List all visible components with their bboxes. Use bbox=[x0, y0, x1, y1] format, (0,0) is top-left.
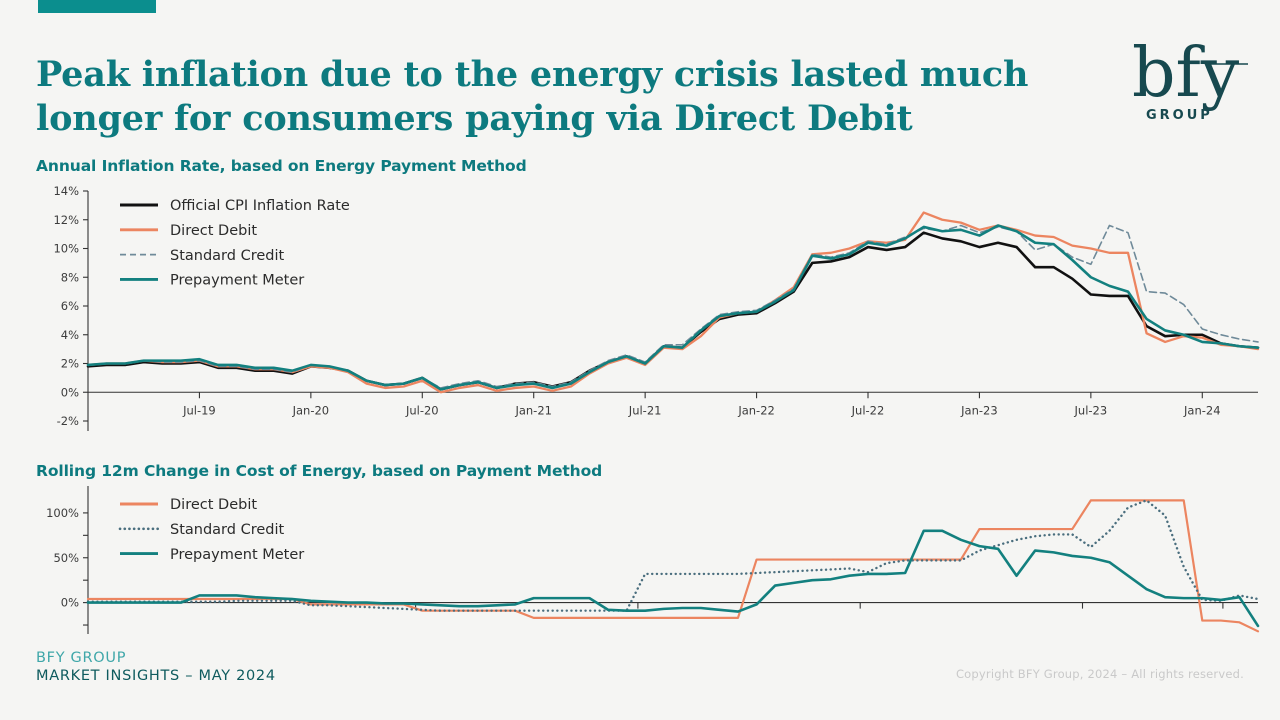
chart1-ytick-label: -2% bbox=[57, 414, 79, 428]
chart1-series-line bbox=[88, 213, 1258, 393]
chart1-ytick-label: 2% bbox=[61, 357, 79, 371]
chart1-xtick-label: Jan-24 bbox=[1183, 403, 1221, 417]
footer-copyright: Copyright BFY Group, 2024 – All rights r… bbox=[956, 667, 1244, 681]
chart1-xtick-label: Jan-22 bbox=[737, 403, 775, 417]
chart1-xtick-label: Jul-21 bbox=[628, 403, 662, 417]
chart2-series-line bbox=[88, 500, 1258, 631]
footer-left: BFY GROUP MARKET INSIGHTS – MAY 2024 bbox=[36, 650, 276, 685]
footer-subtitle: MARKET INSIGHTS – MAY 2024 bbox=[36, 668, 276, 686]
accent-bar bbox=[38, 0, 156, 13]
chart2-series-line bbox=[88, 531, 1258, 626]
chart1-xtick-label: Jan-23 bbox=[960, 403, 998, 417]
chart1-ytick-label: 12% bbox=[53, 213, 79, 227]
chart1-ytick-label: 14% bbox=[53, 184, 79, 198]
chart1-legend-label: Standard Credit bbox=[170, 248, 284, 264]
chart2-ytick-label: 50% bbox=[53, 551, 79, 565]
page-title: Peak inflation due to the energy crisis … bbox=[36, 53, 1066, 140]
chart1-legend-label: Direct Debit bbox=[170, 223, 257, 239]
chart1-xtick-label: Jul-19 bbox=[182, 403, 216, 417]
chart2-ytick-label: 100% bbox=[46, 506, 79, 520]
chart1-xtick-label: Jul-22 bbox=[851, 403, 885, 417]
chart2-legend-label: Standard Credit bbox=[170, 522, 284, 538]
chart1-xtick-label: Jul-23 bbox=[1074, 403, 1108, 417]
chart1-xtick-label: Jul-20 bbox=[405, 403, 439, 417]
chart2-legend-label: Direct Debit bbox=[170, 497, 257, 513]
chart1-ytick-label: 4% bbox=[61, 328, 79, 342]
chart-rolling-12m-cost-change: 0%50%100%Direct DebitStandard CreditPrep… bbox=[0, 482, 1280, 642]
chart2-legend-label: Prepayment Meter bbox=[170, 547, 304, 563]
chart1-svg: -2%0%2%4%6%8%10%12%14%Jul-19Jan-20Jul-20… bbox=[0, 183, 1280, 448]
chart2-svg: 0%50%100%Direct DebitStandard CreditPrep… bbox=[0, 482, 1280, 642]
chart1-heading: Annual Inflation Rate, based on Energy P… bbox=[36, 157, 527, 175]
chart2-heading: Rolling 12m Change in Cost of Energy, ba… bbox=[36, 462, 602, 480]
chart1-xtick-label: Jan-21 bbox=[514, 403, 552, 417]
chart-annual-inflation-rate: -2%0%2%4%6%8%10%12%14%Jul-19Jan-20Jul-20… bbox=[0, 183, 1280, 448]
chart1-ytick-label: 0% bbox=[61, 385, 79, 399]
logo-svg: bfy GROUP bbox=[1122, 22, 1252, 130]
logo-wordmark: bfy bbox=[1132, 34, 1240, 113]
logo-subtext: GROUP bbox=[1146, 108, 1213, 123]
slide-root: Peak inflation due to the energy crisis … bbox=[0, 0, 1280, 720]
footer-brand: BFY GROUP bbox=[36, 650, 276, 668]
chart1-ytick-label: 8% bbox=[61, 270, 79, 284]
chart2-ytick-label: 0% bbox=[61, 596, 79, 610]
chart1-ytick-label: 10% bbox=[53, 242, 79, 256]
chart1-ytick-label: 6% bbox=[61, 299, 79, 313]
chart1-legend-label: Official CPI Inflation Rate bbox=[170, 198, 350, 214]
bfy-group-logo: bfy GROUP bbox=[1122, 22, 1252, 130]
chart1-legend-label: Prepayment Meter bbox=[170, 273, 304, 289]
chart1-xtick-label: Jan-20 bbox=[292, 403, 330, 417]
